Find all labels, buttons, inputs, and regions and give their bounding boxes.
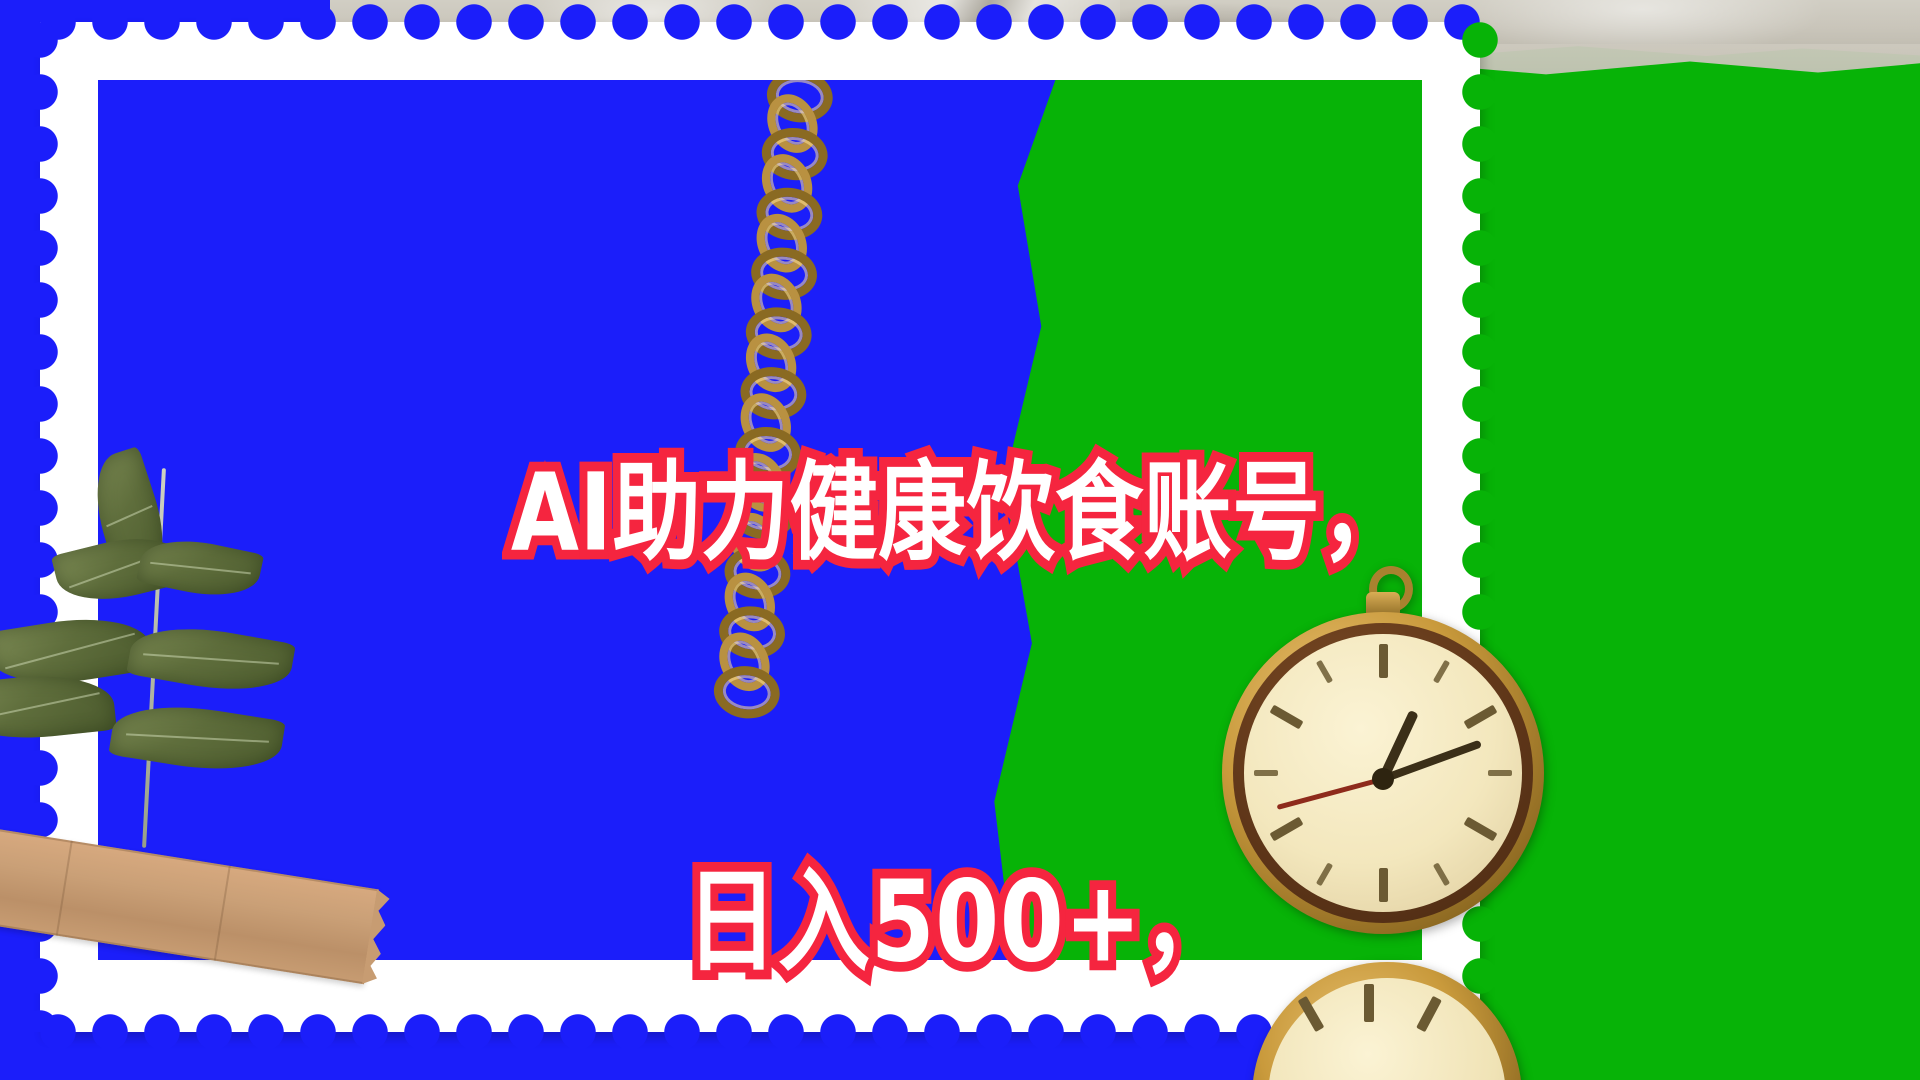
headline-text: AI助力健康饮食账号， 日入500+， 一分钟一个原创作品， 小白轻松实现引流赚… <box>0 176 1920 1080</box>
stamp-perforation-row-top <box>40 4 1480 40</box>
headline-line-1: AI助力健康饮食账号， <box>0 445 1920 582</box>
poster-canvas: AI助力健康饮食账号， 日入500+， 一分钟一个原创作品， 小白轻松实现引流赚… <box>0 0 1920 1080</box>
headline-line-2: 日入500+， <box>0 851 1920 995</box>
